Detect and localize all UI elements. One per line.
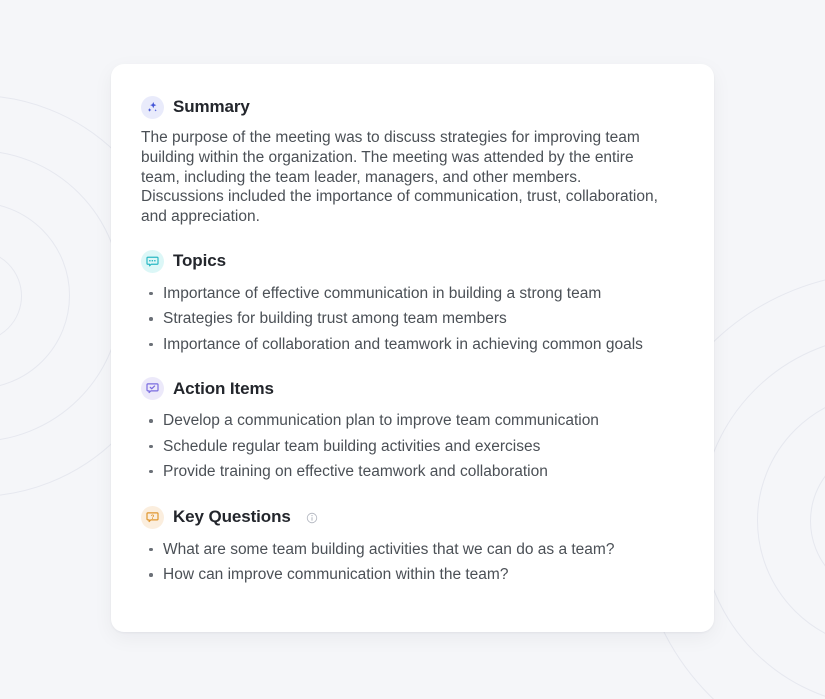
list-item: How can improve communication within the… [141, 565, 684, 585]
list-item: Importance of effective communication in… [141, 284, 684, 304]
decorative-ring [0, 150, 122, 442]
section-action-items-header: Action Items [141, 377, 684, 400]
list-item: What are some team building activities t… [141, 540, 684, 560]
svg-text:?: ? [151, 515, 155, 521]
section-action-items: Action Items Develop a communication pla… [141, 377, 684, 481]
decorative-ring [700, 335, 825, 699]
list-item: Develop a communication plan to improve … [141, 411, 684, 431]
summary-paragraph: The purpose of the meeting was to discus… [141, 128, 666, 227]
decorative-ring [0, 250, 22, 342]
decorative-ring [757, 392, 825, 649]
action-items-list: Develop a communication plan to improve … [141, 411, 684, 481]
decorative-ring [0, 202, 70, 389]
info-circle-icon[interactable] [306, 512, 318, 524]
section-key-questions-header: ? Key Questions [141, 506, 684, 529]
section-summary-header: Summary [141, 96, 684, 119]
section-topics-header: Topics [141, 250, 684, 273]
chat-bubble-dots-icon [141, 250, 164, 273]
section-summary: Summary The purpose of the meeting was t… [141, 96, 684, 227]
chat-bubble-question-icon: ? [141, 506, 164, 529]
list-item: Provide training on effective teamwork a… [141, 462, 684, 482]
section-title-action-items: Action Items [173, 379, 274, 399]
section-title-summary: Summary [173, 97, 250, 117]
decorative-ring [810, 445, 825, 597]
chat-bubble-check-icon [141, 377, 164, 400]
list-item: Strategies for building trust among team… [141, 309, 684, 329]
section-topics: Topics Importance of effective communica… [141, 250, 684, 354]
list-item: Importance of collaboration and teamwork… [141, 335, 684, 355]
key-questions-list: What are some team building activities t… [141, 540, 684, 585]
sparkle-icon [141, 96, 164, 119]
topics-list: Importance of effective communication in… [141, 284, 684, 354]
list-item: Schedule regular team building activitie… [141, 437, 684, 457]
section-title-key-questions: Key Questions [173, 507, 291, 527]
meeting-summary-card: Summary The purpose of the meeting was t… [111, 64, 714, 632]
section-key-questions: ? Key Questions What are some team build… [141, 506, 684, 585]
section-title-topics: Topics [173, 251, 226, 271]
